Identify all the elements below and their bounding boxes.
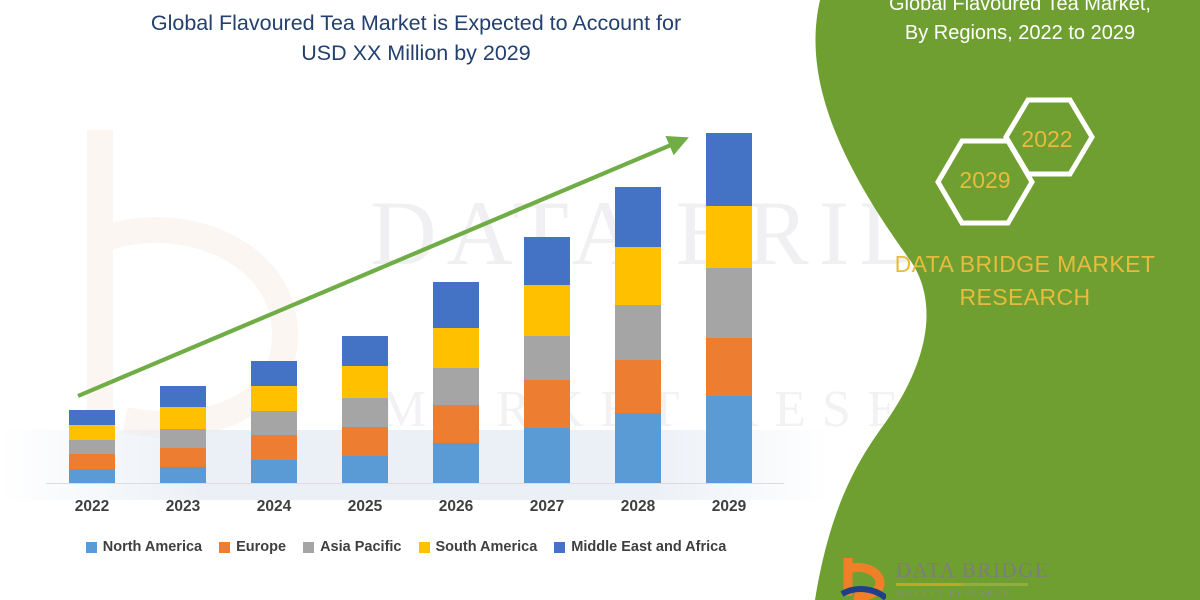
legend-item[interactable]: South America bbox=[419, 539, 538, 555]
legend-swatch-icon bbox=[86, 542, 97, 553]
panel-title-line2: By Regions, 2022 to 2029 bbox=[840, 19, 1200, 48]
legend-label: South America bbox=[436, 539, 538, 555]
legend-label: Europe bbox=[236, 539, 286, 555]
legend-item[interactable]: North America bbox=[86, 539, 202, 555]
panel-brand-line1: DATA BRIDGE MARKET bbox=[860, 248, 1190, 281]
growth-arrow-icon bbox=[0, 0, 830, 600]
legend-label: Asia Pacific bbox=[320, 539, 401, 555]
panel-title: Global Flavoured Tea Market, By Regions,… bbox=[840, 0, 1200, 48]
legend-swatch-icon bbox=[219, 542, 230, 553]
data-bridge-mark-icon bbox=[840, 556, 886, 600]
chart-legend: North AmericaEuropeAsia PacificSouth Ame… bbox=[0, 539, 812, 555]
legend-item[interactable]: Europe bbox=[219, 539, 286, 555]
legend-item[interactable]: Middle East and Africa bbox=[554, 539, 726, 555]
hexagon-2022-label: 2022 bbox=[997, 126, 1097, 153]
legend-swatch-icon bbox=[554, 542, 565, 553]
logo-title: DATA BRIDGE bbox=[896, 559, 1049, 581]
panel-brand: DATA BRIDGE MARKET RESEARCH bbox=[860, 248, 1190, 314]
hexagon-2029-label: 2029 bbox=[935, 167, 1035, 194]
legend-swatch-icon bbox=[419, 542, 430, 553]
legend-label: Middle East and Africa bbox=[571, 539, 726, 555]
legend-item[interactable]: Asia Pacific bbox=[303, 539, 401, 555]
logo-divider bbox=[896, 583, 1028, 586]
panel-title-line1: Global Flavoured Tea Market, bbox=[840, 0, 1200, 19]
infographic-canvas: DATA BRIDGE MARKET RESEARCH Global Flavo… bbox=[0, 0, 1200, 600]
legend-label: North America bbox=[103, 539, 202, 555]
data-bridge-logo: DATA BRIDGE MARKET RESEARCH bbox=[840, 556, 1049, 600]
stacked-bar-chart: 20222023202420252026202720282029 North A… bbox=[0, 0, 830, 600]
logo-subtitle: MARKET RESEARCH bbox=[896, 588, 1049, 598]
panel-brand-line2: RESEARCH bbox=[860, 281, 1190, 314]
legend-swatch-icon bbox=[303, 542, 314, 553]
